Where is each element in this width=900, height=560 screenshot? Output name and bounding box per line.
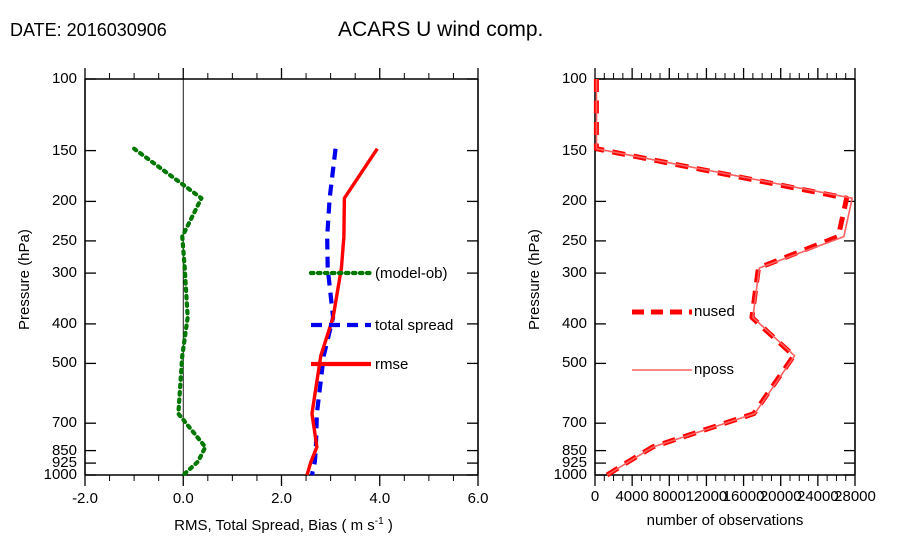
left-ytick-1000: 1000 xyxy=(12,466,77,483)
left-xtick-0: -2.0 xyxy=(45,490,125,507)
left-xtick-3: 4.0 xyxy=(340,490,420,507)
left-ytick-100: 100 xyxy=(22,70,77,87)
series-nposs xyxy=(596,79,852,475)
right-ytick-700: 700 xyxy=(532,414,587,431)
left-x-axis-title-prefix: RMS, Total Spread, Bias ( m s xyxy=(174,517,375,534)
left-ytick-700: 700 xyxy=(22,414,77,431)
left-ytick-400: 400 xyxy=(22,315,77,332)
right-ytick-100: 100 xyxy=(532,70,587,87)
legend-label-nposs: nposs xyxy=(694,361,734,378)
left-ytick-500: 500 xyxy=(22,354,77,371)
legend-label-nused: nused xyxy=(694,303,735,320)
legend-label-model-ob: (model-ob) xyxy=(375,265,448,282)
left-data-curves xyxy=(134,149,377,475)
left-ytick-250: 250 xyxy=(22,232,77,249)
series--model-ob- xyxy=(134,149,205,475)
series-nused xyxy=(596,79,846,475)
left-ytick-300: 300 xyxy=(22,264,77,281)
left-x-axis-title: RMS, Total Spread, Bias ( m s-1 ) xyxy=(141,516,426,534)
right-x-axis-title: number of observations xyxy=(605,512,845,529)
right-ytick-1000: 1000 xyxy=(522,466,587,483)
left-xtick-2: 2.0 xyxy=(242,490,322,507)
legend-label-total-spread: total spread xyxy=(375,317,453,334)
right-ytick-500: 500 xyxy=(532,354,587,371)
right-ytick-200: 200 xyxy=(532,192,587,209)
left-x-axis-title-suffix: ) xyxy=(384,517,393,534)
right-ytick-400: 400 xyxy=(532,315,587,332)
left-legend-swatches xyxy=(311,273,371,364)
right-ytick-150: 150 xyxy=(532,142,587,159)
left-ytick-150: 150 xyxy=(22,142,77,159)
right-chart-panel: Pressure (hPa) xyxy=(500,0,900,560)
left-chart-panel: Pressure (hPa) xyxy=(0,0,500,560)
left-x-axis-title-exponent: -1 xyxy=(375,516,384,527)
right-legend-swatches xyxy=(632,312,692,370)
right-ytick-300: 300 xyxy=(532,264,587,281)
right-data-curves xyxy=(596,79,852,475)
right-xtick-7: 28000 xyxy=(815,488,895,505)
right-ytick-250: 250 xyxy=(532,232,587,249)
legend-label-rmse: rmse xyxy=(375,356,408,373)
left-ytick-200: 200 xyxy=(22,192,77,209)
left-xtick-1: 0.0 xyxy=(143,490,223,507)
